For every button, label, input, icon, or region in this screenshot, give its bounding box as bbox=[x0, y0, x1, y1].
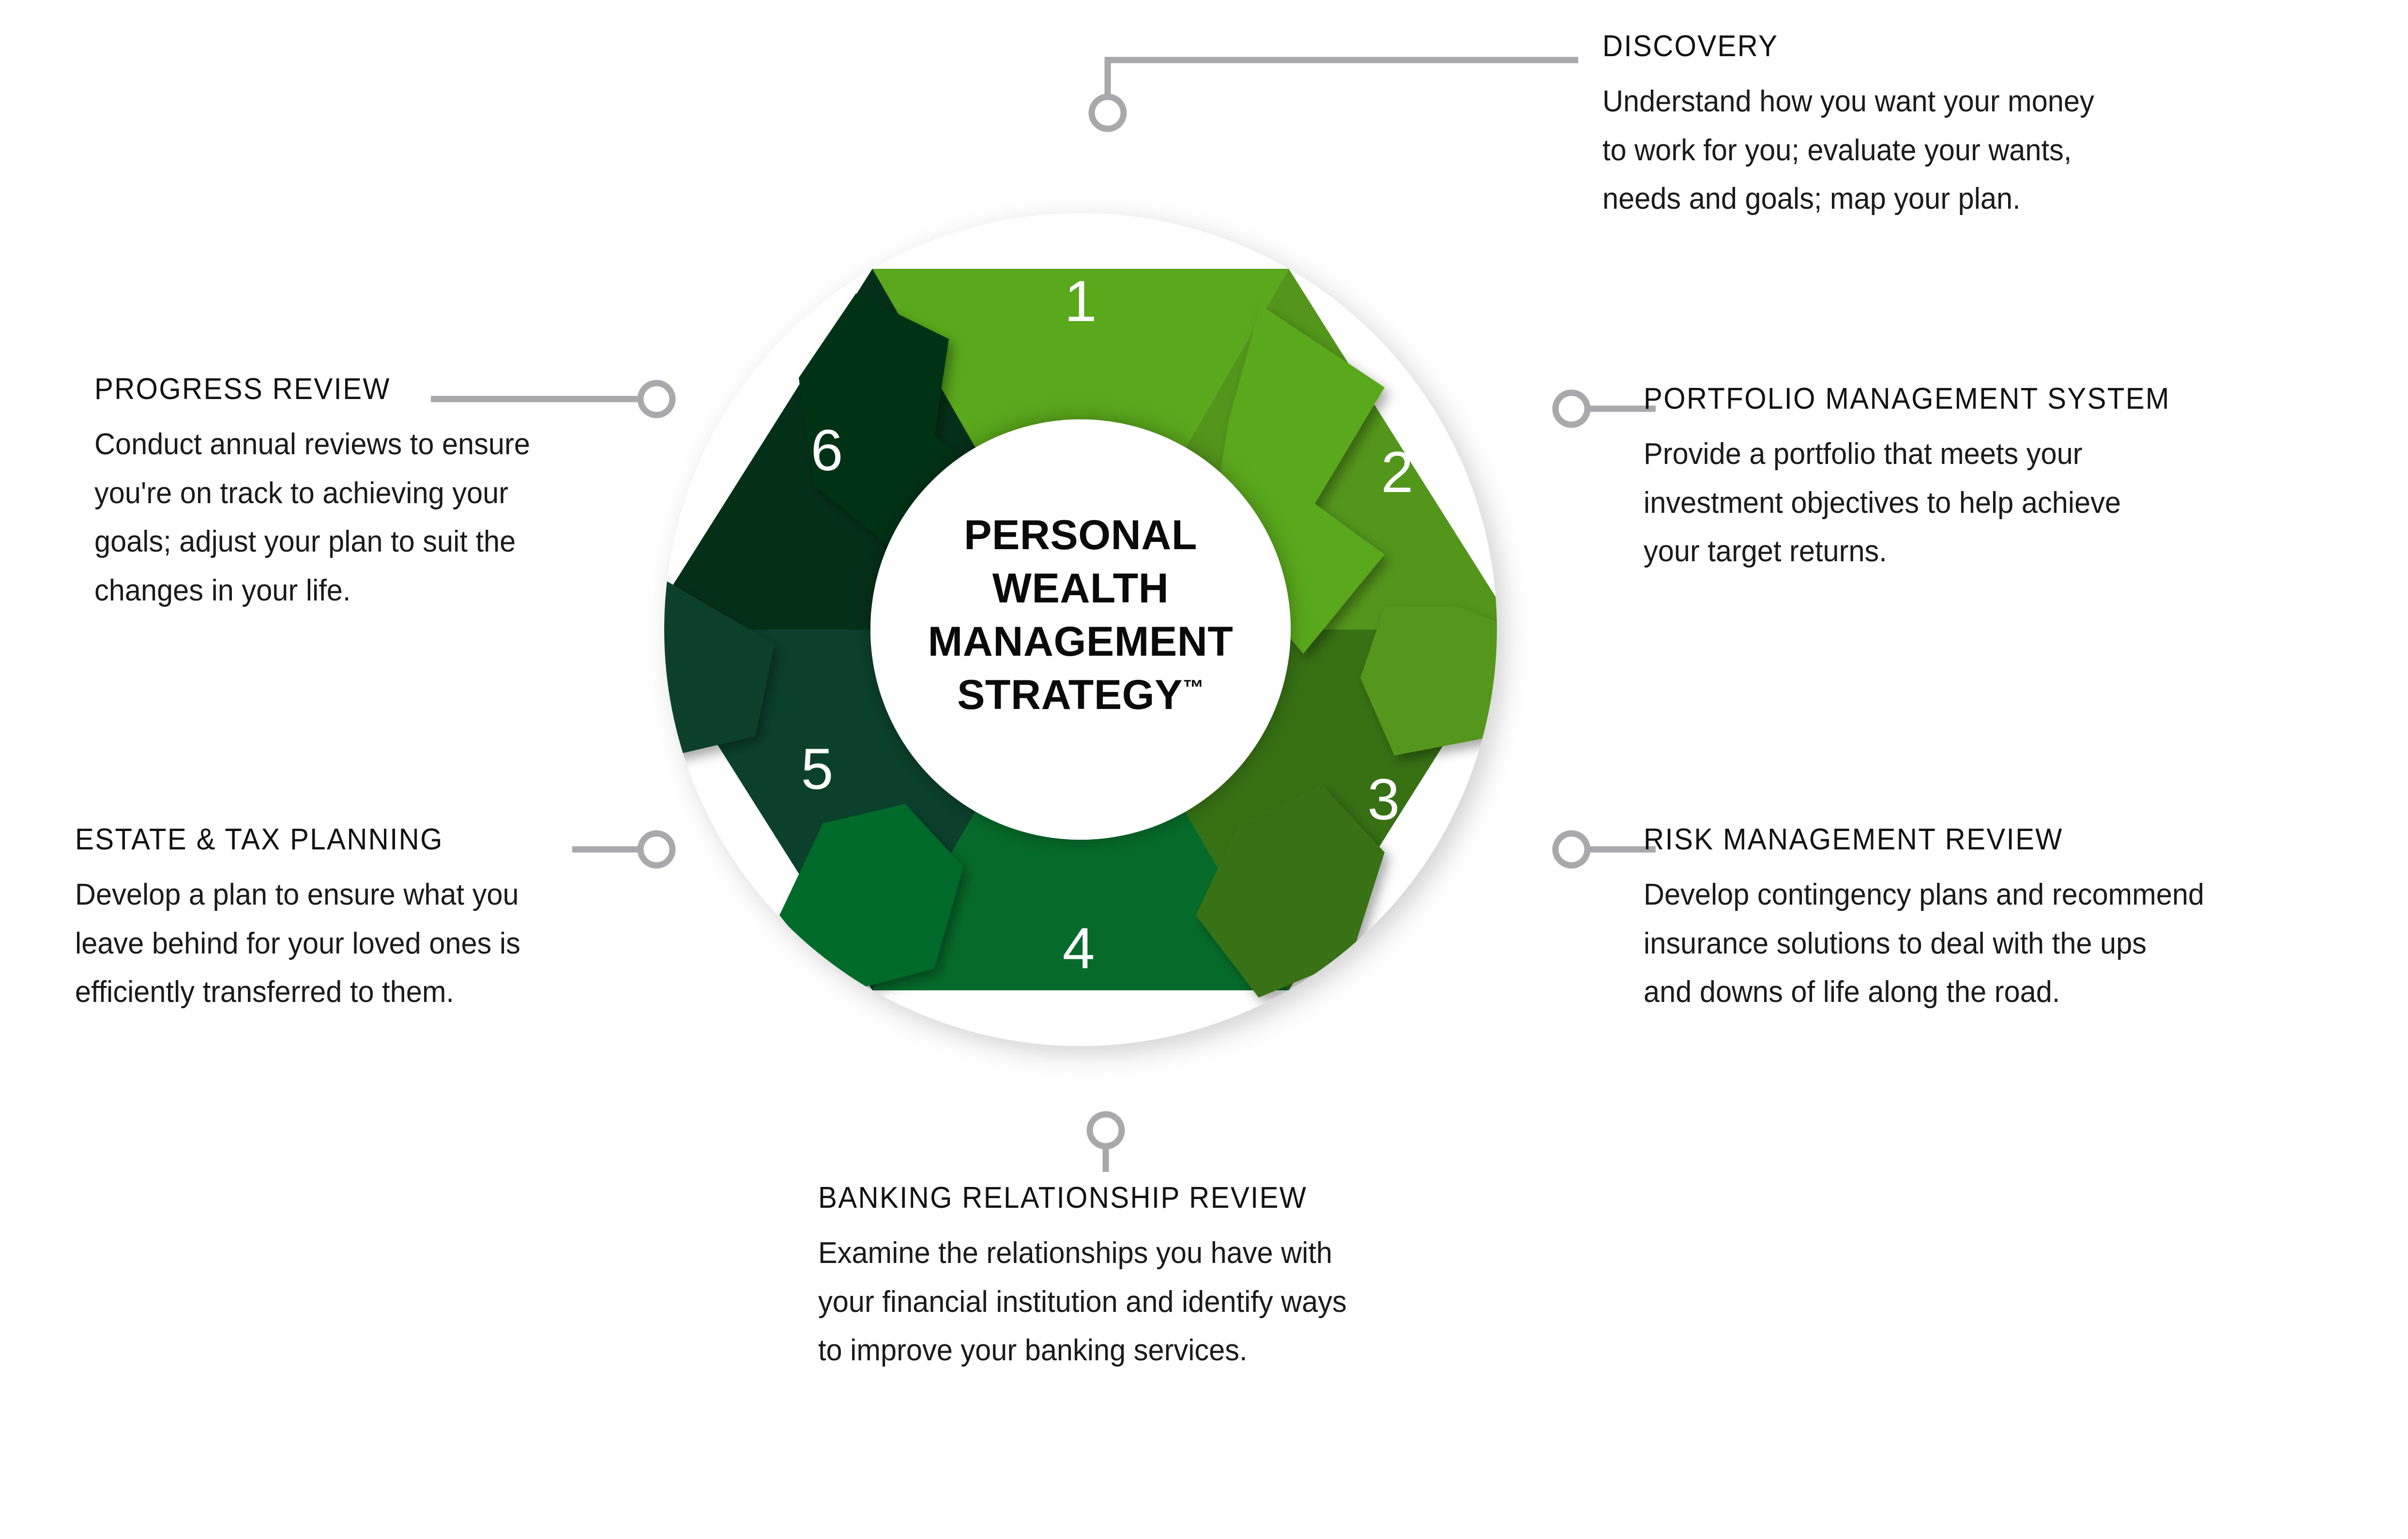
label-3-body-line-1: Develop contingency plans and recommend bbox=[1644, 871, 2359, 919]
label-5-title: ESTATE & TAX PLANNING bbox=[75, 823, 612, 856]
label-5-body-line-2: leave behind for your loved ones is bbox=[75, 920, 624, 968]
label-progress-review[interactable]: PROGRESS REVIEW Conduct annual reviews t… bbox=[94, 373, 666, 615]
label-portfolio-management-system[interactable]: PORTFOLIO MANAGEMENT SYSTEM Provide a po… bbox=[1644, 383, 2370, 576]
label-5-body: Develop a plan to ensure what you leave … bbox=[75, 871, 624, 1016]
label-2-body-line-3: your target returns. bbox=[1644, 527, 2341, 576]
label-4-body-line-1: Examine the relationships you have with bbox=[818, 1229, 1478, 1277]
label-estate-and-tax-planning[interactable]: ESTATE & TAX PLANNING Develop a plan to … bbox=[75, 823, 646, 1017]
label-4-body-line-2: your financial institution and identify … bbox=[818, 1278, 1478, 1326]
label-4-title: BANKING RELATIONSHIP REVIEW bbox=[818, 1182, 1464, 1215]
label-3-body-line-2: insurance solutions to deal with the ups bbox=[1644, 920, 2359, 968]
label-6-body-line-4: changes in your life. bbox=[94, 567, 643, 615]
center-line-3: MANAGEMENT bbox=[887, 615, 1274, 668]
label-6-title: PROGRESS REVIEW bbox=[94, 373, 631, 406]
label-1-title: DISCOVERY bbox=[1602, 30, 2276, 63]
label-1-body: Understand how you want your money to wo… bbox=[1602, 77, 2290, 223]
segment-1-number: 1 bbox=[1065, 269, 1097, 334]
label-4-body-line-3: to improve your banking services. bbox=[818, 1326, 1478, 1375]
diagram-canvas: 1 2 3 4 5 6 PE bbox=[0, 0, 2408, 1539]
label-1-body-line-3: needs and goals; map your plan. bbox=[1602, 175, 2290, 223]
label-discovery[interactable]: DISCOVERY Understand how you want your m… bbox=[1602, 30, 2319, 224]
label-2-title: PORTFOLIO MANAGEMENT SYSTEM bbox=[1644, 383, 2326, 416]
center-line-1: PERSONAL bbox=[887, 508, 1274, 562]
label-1-body-line-1: Understand how you want your money bbox=[1602, 77, 2290, 126]
label-5-body-line-1: Develop a plan to ensure what you bbox=[75, 871, 624, 919]
segment-2-number: 2 bbox=[1381, 440, 1414, 505]
segment-5-number: 5 bbox=[801, 737, 834, 801]
connector-dot-1 bbox=[1092, 97, 1124, 129]
label-risk-management-review[interactable]: RISK MANAGEMENT REVIEW Develop contingen… bbox=[1644, 823, 2389, 1017]
label-4-body: Examine the relationships you have with … bbox=[818, 1229, 1478, 1375]
segment-6-number: 6 bbox=[811, 418, 843, 483]
connector-1 bbox=[1108, 60, 1578, 97]
label-1-body-line-2: to work for you; evaluate your wants, bbox=[1602, 126, 2290, 175]
label-2-body-line-2: investment objectives to help achieve bbox=[1644, 479, 2341, 527]
label-6-body-line-2: you're on track to achieving your bbox=[94, 469, 643, 518]
segment-3-number: 3 bbox=[1368, 767, 1400, 832]
label-3-body-line-3: and downs of life along the road. bbox=[1644, 968, 2359, 1016]
trademark-symbol: ™ bbox=[1183, 676, 1204, 700]
label-6-body-line-3: goals; adjust your plan to suit the bbox=[94, 518, 643, 566]
label-6-body-line-1: Conduct annual reviews to ensure bbox=[94, 420, 643, 469]
connector-dot-4 bbox=[1090, 1114, 1122, 1146]
connector-dot-2 bbox=[1555, 393, 1587, 425]
label-2-body: Provide a portfolio that meets your inve… bbox=[1644, 430, 2341, 576]
label-6-body: Conduct annual reviews to ensure you're … bbox=[94, 420, 643, 615]
center-line-2: WEALTH bbox=[887, 562, 1274, 615]
label-2-body-line-1: Provide a portfolio that meets your bbox=[1644, 430, 2341, 478]
label-3-title: RISK MANAGEMENT REVIEW bbox=[1644, 823, 2345, 856]
center-title: PERSONAL WEALTH MANAGEMENT STRATEGY™ bbox=[887, 508, 1274, 722]
connector-dot-3 bbox=[1555, 833, 1587, 865]
label-banking-relationship-review[interactable]: BANKING RELATIONSHIP REVIEW Examine the … bbox=[818, 1182, 1506, 1375]
center-line-4: STRATEGY™ bbox=[887, 668, 1274, 722]
label-3-body: Develop contingency plans and recommend … bbox=[1644, 871, 2359, 1016]
label-5-body-line-3: efficiently transferred to them. bbox=[75, 968, 624, 1016]
segment-4-number: 4 bbox=[1063, 916, 1095, 981]
center-line-4-text: STRATEGY bbox=[957, 672, 1183, 718]
